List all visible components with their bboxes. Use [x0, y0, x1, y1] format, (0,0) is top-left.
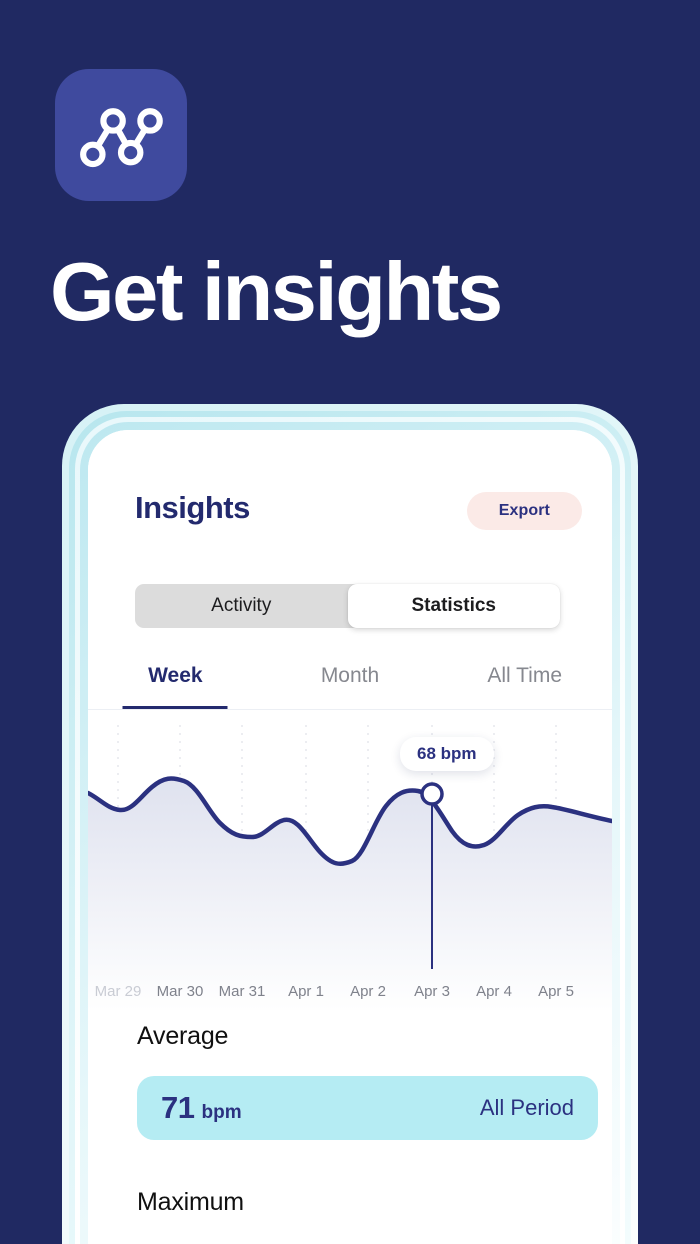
stat-number: 71: [161, 1090, 194, 1126]
x-tick-label: Apr 2: [350, 983, 386, 1000]
x-tick-label: Mar 31: [219, 983, 266, 1000]
stat-label-maximum: Maximum: [137, 1188, 612, 1217]
app-header: Insights Export Activity Statistics: [88, 430, 612, 630]
x-tick-label: Mar 29: [95, 983, 142, 1000]
segment-statistics[interactable]: Statistics: [348, 584, 561, 628]
tab-all-time[interactable]: All Time: [437, 642, 612, 709]
tab-month[interactable]: Month: [263, 642, 438, 709]
chart-tooltip: 68 bpm: [400, 737, 494, 771]
stat-unit: bpm: [201, 1102, 241, 1124]
export-button[interactable]: Export: [467, 492, 582, 530]
phone-screen: Insights Export Activity Statistics Week…: [88, 430, 612, 1244]
stats-section: Average 71 bpm All Period Maximum: [88, 1022, 612, 1244]
x-tick-label: Apr 5: [538, 983, 574, 1000]
stat-period: All Period: [480, 1095, 574, 1121]
chart-area-fill: [88, 779, 612, 1011]
stat-card-average[interactable]: 71 bpm All Period: [137, 1076, 598, 1140]
period-tabs[interactable]: Week Month All Time: [88, 642, 612, 710]
x-tick-label: Apr 3: [414, 983, 450, 1000]
x-tick-label: Mar 30: [157, 983, 204, 1000]
headline: Get insights: [50, 250, 670, 333]
heart-rate-chart[interactable]: 68 bpm Mar 29 Mar 30 Mar 31 Apr 1 Apr 2 …: [88, 711, 612, 1011]
x-tick-label: Apr 4: [476, 983, 512, 1000]
chart-x-axis: Mar 29 Mar 30 Mar 31 Apr 1 Apr 2 Apr 3 A…: [88, 983, 612, 1005]
page-title: Insights: [135, 490, 250, 526]
segment-activity[interactable]: Activity: [135, 584, 348, 628]
segmented-control[interactable]: Activity Statistics: [135, 584, 560, 628]
phone-mockup: Insights Export Activity Statistics Week…: [62, 404, 638, 1244]
app-icon: [55, 69, 187, 201]
chart-highlight-marker: [422, 784, 442, 804]
tab-week[interactable]: Week: [88, 642, 263, 709]
stat-label-average: Average: [137, 1022, 612, 1051]
x-tick-label: Apr 1: [288, 983, 324, 1000]
stat-value-group: 71 bpm: [161, 1090, 242, 1126]
line-chart-nodes-icon: [77, 91, 165, 179]
chart-svg: [88, 711, 612, 1011]
